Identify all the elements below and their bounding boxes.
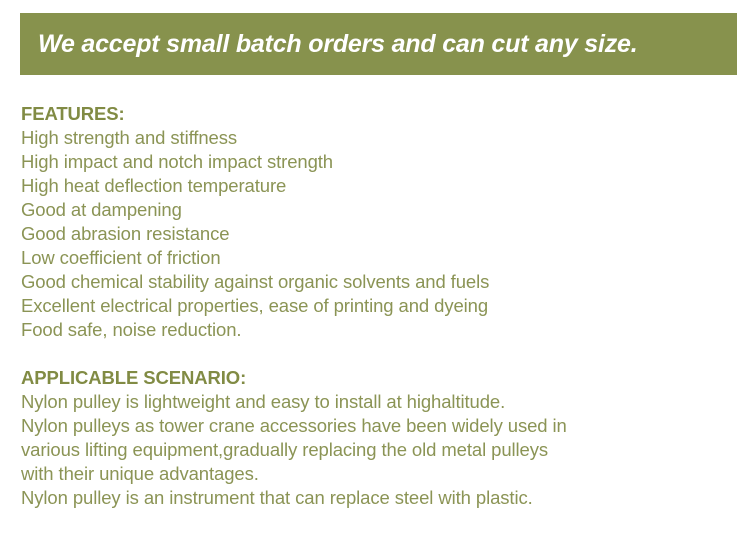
features-list: High strength and stiffness High impact … [21, 126, 731, 342]
features-list-item: Excellent electrical properties, ease of… [21, 294, 731, 318]
applicable-scenario-list-item: with their unique advantages. [21, 462, 731, 486]
promo-banner-text: We accept small batch orders and can cut… [38, 32, 638, 57]
features-list-item: High impact and notch impact strength [21, 150, 731, 174]
product-info-page: We accept small batch orders and can cut… [0, 0, 750, 544]
features-list-item: Food safe, noise reduction. [21, 318, 731, 342]
applicable-scenario-section: APPLICABLE SCENARIO: Nylon pulley is lig… [21, 366, 731, 510]
product-details-content: FEATURES: High strength and stiffness Hi… [21, 102, 731, 510]
applicable-scenario-list: Nylon pulley is lightweight and easy to … [21, 390, 731, 510]
features-list-item: Low coefficient of friction [21, 246, 731, 270]
features-list-item: High heat deflection temperature [21, 174, 731, 198]
applicable-scenario-heading: APPLICABLE SCENARIO: [21, 366, 731, 390]
features-section: FEATURES: High strength and stiffness Hi… [21, 102, 731, 342]
features-list-item: High strength and stiffness [21, 126, 731, 150]
features-list-item: Good abrasion resistance [21, 222, 731, 246]
applicable-scenario-list-item: various lifting equipment,gradually repl… [21, 438, 731, 462]
applicable-scenario-list-item: Nylon pulley is an instrument that can r… [21, 486, 731, 510]
applicable-scenario-list-item: Nylon pulleys as tower crane accessories… [21, 414, 731, 438]
applicable-scenario-list-item: Nylon pulley is lightweight and easy to … [21, 390, 731, 414]
promo-banner: We accept small batch orders and can cut… [20, 13, 737, 75]
features-list-item: Good at dampening [21, 198, 731, 222]
features-heading: FEATURES: [21, 102, 731, 126]
features-list-item: Good chemical stability against organic … [21, 270, 731, 294]
